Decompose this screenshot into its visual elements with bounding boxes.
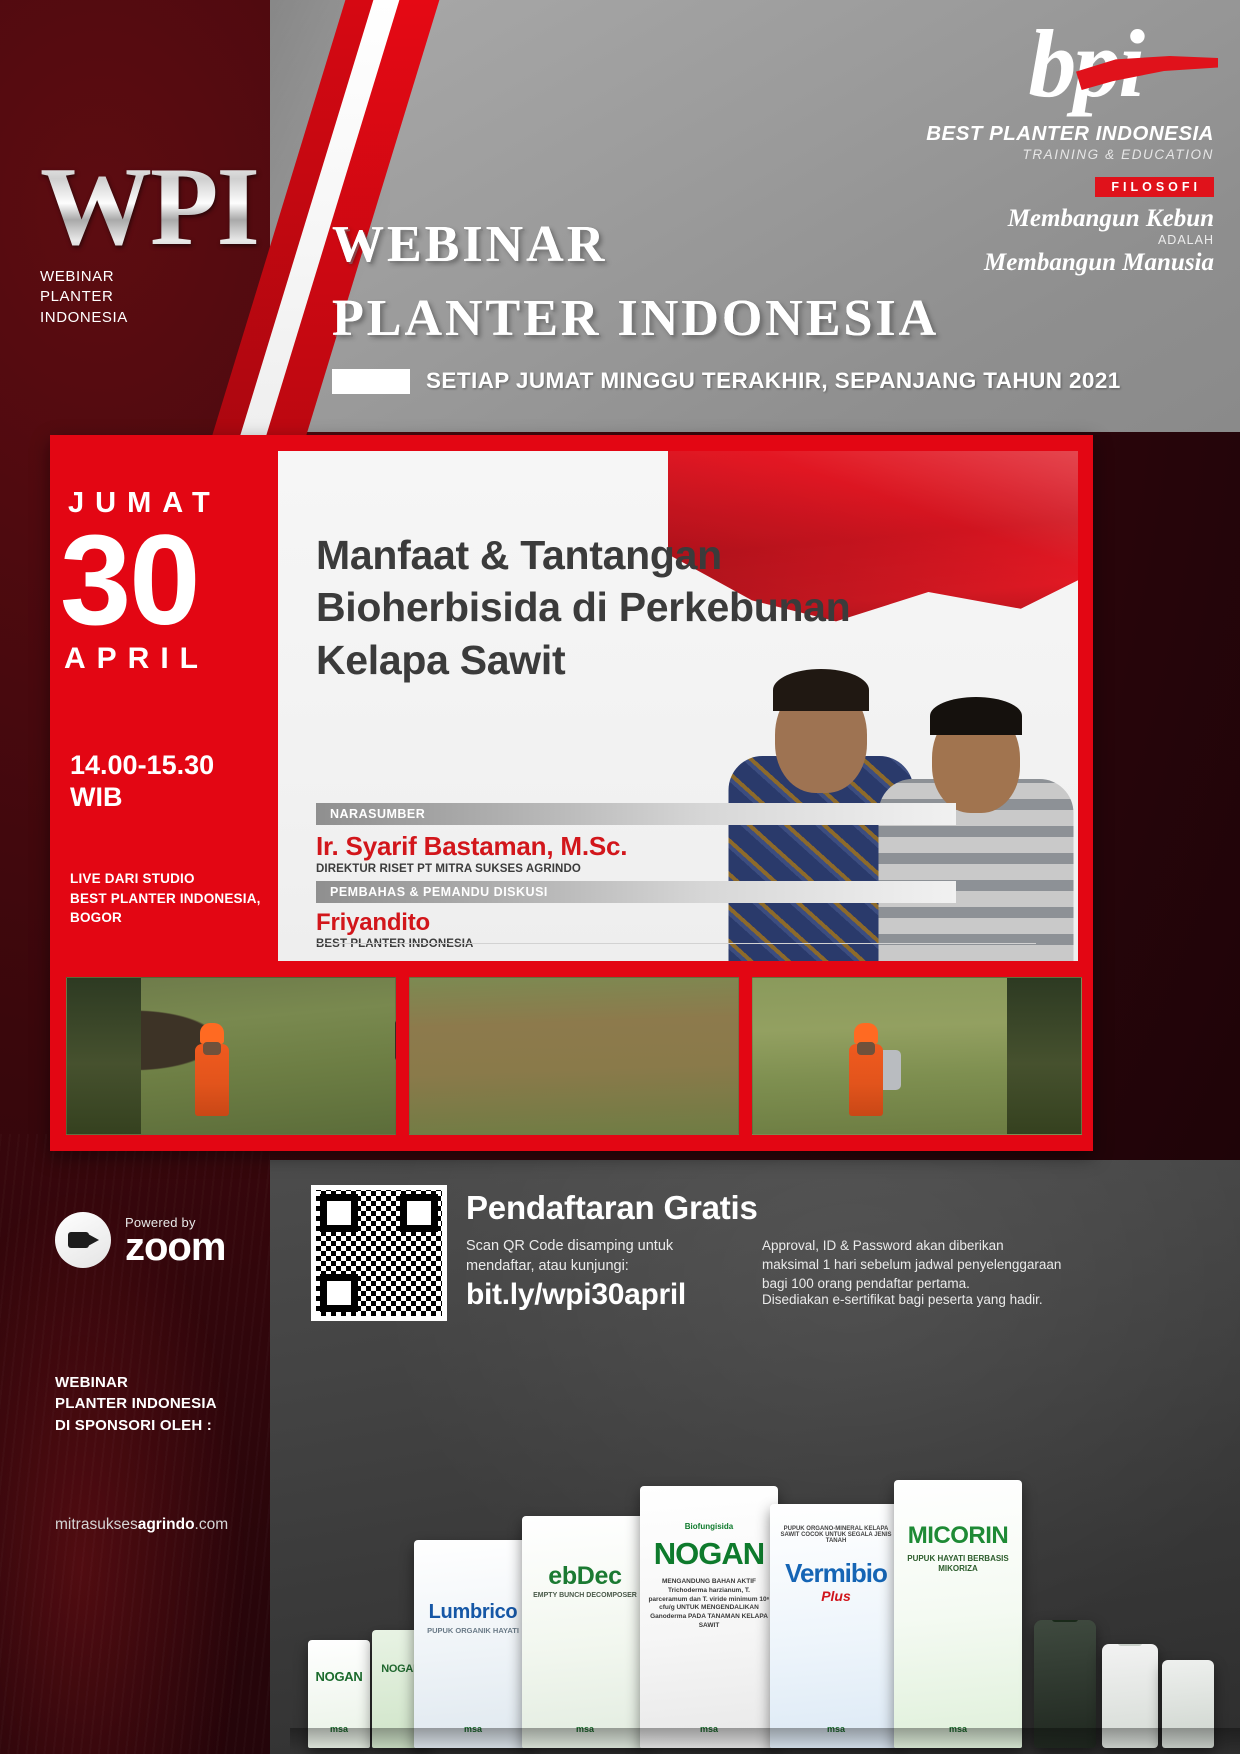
wpi-sublabel-line2: PLANTER — [40, 287, 290, 307]
wpi-wordmark: WPI — [40, 156, 290, 259]
bpi-tagline: TRAINING & EDUCATION — [924, 147, 1214, 162]
speaker-credential-2: PEMBAHAS & PEMANDU DISKUSI Friyandito BE… — [316, 881, 956, 950]
speaker-credential-1: NARASUMBER Ir. Syarif Bastaman, M.Sc. DI… — [316, 803, 956, 875]
zoom-wordmark: zoom — [125, 1228, 225, 1266]
palm-trunk-right — [1007, 978, 1081, 1134]
product-micorin: MICORIN PUPUK HAYATI BERBASIS MIKORIZA m… — [894, 1480, 1022, 1748]
registration-note-2: Disediakan e-sertifikat bagi peserta yan… — [762, 1290, 1062, 1309]
wpi-sublabel-line1: WEBINAR — [40, 267, 290, 287]
product-sub-lumbrico: PUPUK ORGANIK HAYATI — [414, 1626, 532, 1635]
field-photo-3 — [752, 977, 1082, 1135]
speaker-1-name: Ir. Syarif Bastaman, M.Sc. — [316, 831, 956, 862]
zoom-text-block: Powered by zoom — [125, 1215, 225, 1266]
speaker-1-hair — [773, 669, 869, 711]
product-lumbrico: Lumbrico PUPUK ORGANIK HAYATI msa — [414, 1540, 532, 1748]
registration-note-1: Approval, ID & Password akan diberikan m… — [762, 1236, 1062, 1293]
event-date-number: 30 — [60, 522, 265, 640]
shelf-floor-shadow — [290, 1728, 1240, 1754]
product-label-ebdec: ebDec — [522, 1564, 648, 1589]
event-timezone: WIB — [70, 782, 265, 814]
bpi-wordmark-row: bpi — [924, 22, 1214, 130]
headline-line-2: PLANTER INDONESIA — [332, 292, 1102, 346]
wpi-logo: WPI WEBINAR PLANTER INDONESIA — [40, 156, 290, 328]
speaker-2-title: BEST PLANTER INDONESIA — [316, 938, 956, 950]
speaker-1-title: DIREKTUR RISET PT MITRA SUKSES AGRINDO — [316, 863, 956, 875]
qr-finder-top-left — [320, 1194, 358, 1232]
product-sub-ebdec: EMPTY BUNCH DECOMPOSER — [522, 1592, 648, 1599]
worker-figure-2 — [849, 1044, 883, 1116]
headline-line-1: WEBINAR — [332, 218, 1102, 272]
product-label-micorin: MICORIN — [894, 1524, 1022, 1548]
speaker-1-role-bar: NARASUMBER — [316, 803, 956, 825]
product-label-lumbrico: Lumbrico — [414, 1602, 532, 1622]
sponsor-line-2: PLANTER INDONESIA — [55, 1393, 217, 1414]
event-month-label: APRIL — [64, 642, 265, 676]
speaker-2-role-bar: PEMBAHAS & PEMANDU DISKUSI — [316, 881, 956, 903]
event-card: JUMAT 30 APRIL 14.00-15.30 WIB LIVE DARI… — [50, 435, 1093, 1151]
website-mid: sukses — [89, 1516, 137, 1533]
event-venue-line-2: BEST PLANTER INDONESIA, — [70, 889, 265, 908]
topic-panel: Manfaat & Tantangan Bioherbisida di Perk… — [278, 451, 1078, 961]
website-prefix: mitra — [55, 1516, 89, 1533]
filosofi-badge: FILOSOFI — [1095, 177, 1214, 197]
sponsor-website[interactable]: mitrasuksesagrindo.com — [55, 1516, 228, 1534]
schedule-text: SETIAP JUMAT MINGGU TERAKHIR, SEPANJANG … — [426, 368, 1121, 394]
product-label-vermibio: Vermibio — [770, 1560, 902, 1586]
registration-link[interactable]: bit.ly/wpi30april — [466, 1278, 686, 1312]
schedule-chip — [332, 369, 410, 394]
event-venue: LIVE DARI STUDIO BEST PLANTER INDONESIA,… — [70, 869, 265, 926]
product-ebdec: ebDec EMPTY BUNCH DECOMPOSER msa — [522, 1516, 648, 1748]
event-time-range: 14.00-15.30 — [70, 750, 265, 782]
webinar-poster: WPI WEBINAR PLANTER INDONESIA bpi BEST P… — [0, 0, 1240, 1754]
video-camera-icon — [55, 1212, 111, 1268]
product-sub-micorin: PUPUK HAYATI BERBASIS MIKORIZA — [900, 1554, 1016, 1575]
zoom-platform-badge: Powered by zoom — [55, 1212, 225, 1268]
product-label-nogan: NOGAN — [640, 1538, 778, 1569]
poster-headline: WEBINAR PLANTER INDONESIA — [332, 218, 1102, 345]
schedule-bar: SETIAP JUMAT MINGGU TERAKHIR, SEPANJANG … — [332, 368, 1121, 394]
event-time: 14.00-15.30 WIB — [70, 750, 265, 814]
sponsor-line-1: WEBINAR — [55, 1372, 217, 1393]
registration-qr-code[interactable] — [311, 1185, 447, 1321]
registration-title: Pendaftaran Gratis — [466, 1189, 758, 1227]
topic-line-1: Manfaat & Tantangan — [316, 529, 936, 581]
sponsor-heading: WEBINAR PLANTER INDONESIA DI SPONSORI OL… — [55, 1372, 217, 1436]
product-vermibio: PUPUK ORGANO-MINERAL KELAPA SAWIT COCOK … — [770, 1504, 902, 1748]
field-photo-strip — [66, 977, 1082, 1135]
product-desc-nogan: MENGANDUNG BAHAN AKTIF Trichoderma harzi… — [648, 1578, 770, 1631]
palm-trunk-left — [67, 978, 141, 1134]
wpi-sublabel: WEBINAR PLANTER INDONESIA — [40, 267, 290, 328]
product-sub-nogan: Biofungisida — [640, 1522, 778, 1531]
registration-scan-instruction: Scan QR Code disamping untuk mendaftar, … — [466, 1236, 741, 1277]
event-venue-line-3: BOGOR — [70, 908, 265, 927]
wpi-sublabel-line3: INDONESIA — [40, 308, 290, 328]
website-bold: agrindo — [138, 1516, 195, 1533]
field-photo-1 — [66, 977, 396, 1135]
qr-finder-top-right — [400, 1194, 438, 1232]
sponsor-line-3: DI SPONSORI OLEH : — [55, 1415, 217, 1436]
product-nogan-large: Biofungisida NOGAN MENGANDUNG BAHAN AKTI… — [640, 1486, 778, 1748]
panel-divider — [316, 943, 1036, 944]
worker-figure-1 — [195, 1044, 229, 1116]
topic-line-2: Bioherbisida di Perkebunan — [316, 581, 936, 633]
speaker-2-name: Friyandito — [316, 909, 956, 937]
product-desc-vermibio: PUPUK ORGANO-MINERAL KELAPA SAWIT COCOK … — [776, 1526, 896, 1544]
field-photo-2 — [409, 977, 739, 1135]
qr-finder-bottom-left — [320, 1274, 358, 1312]
product-sub-vermibio: Plus — [770, 1588, 902, 1604]
website-suffix: .com — [195, 1516, 229, 1533]
sponsor-product-shelf: NOGAN msa NOGAN Lumbrico PUPUK ORGANIK H… — [290, 1358, 1240, 1754]
event-venue-line-1: LIVE DARI STUDIO — [70, 869, 265, 888]
product-label-nogan-small-1: NOGAN — [308, 1670, 370, 1683]
speaker-2-hair — [930, 697, 1022, 735]
